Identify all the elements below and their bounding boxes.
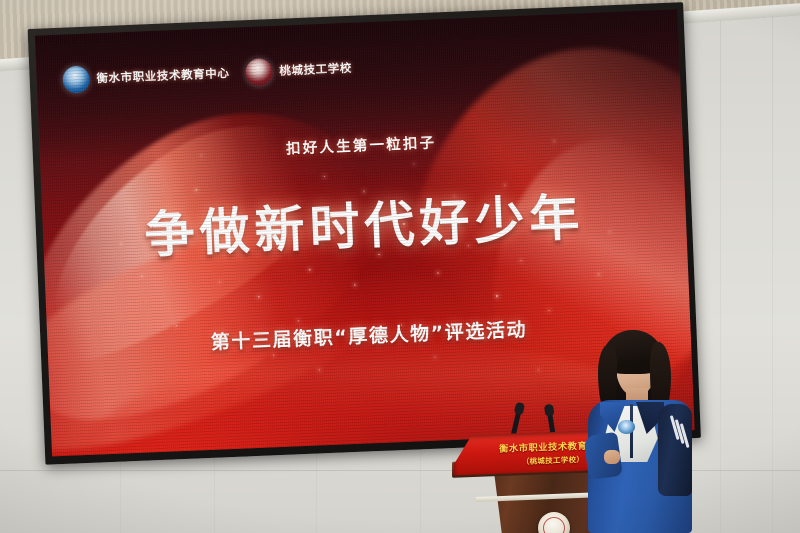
wall-panel-seam — [772, 0, 773, 533]
screenshot-root: 衡水市职业技术教育中心 桃城技工学校 扣好人生第一粒扣子 争做新时代好少年 第十… — [0, 0, 800, 533]
jacket-sleeve-right — [658, 404, 692, 496]
tracksuit-lower — [600, 506, 686, 533]
student-speaker — [576, 330, 704, 533]
school-logo-patch — [618, 420, 635, 434]
wall-panel-seam — [720, 0, 721, 533]
podium-banner-line2: （桃城技工学校） — [522, 453, 584, 466]
hand — [604, 450, 620, 464]
